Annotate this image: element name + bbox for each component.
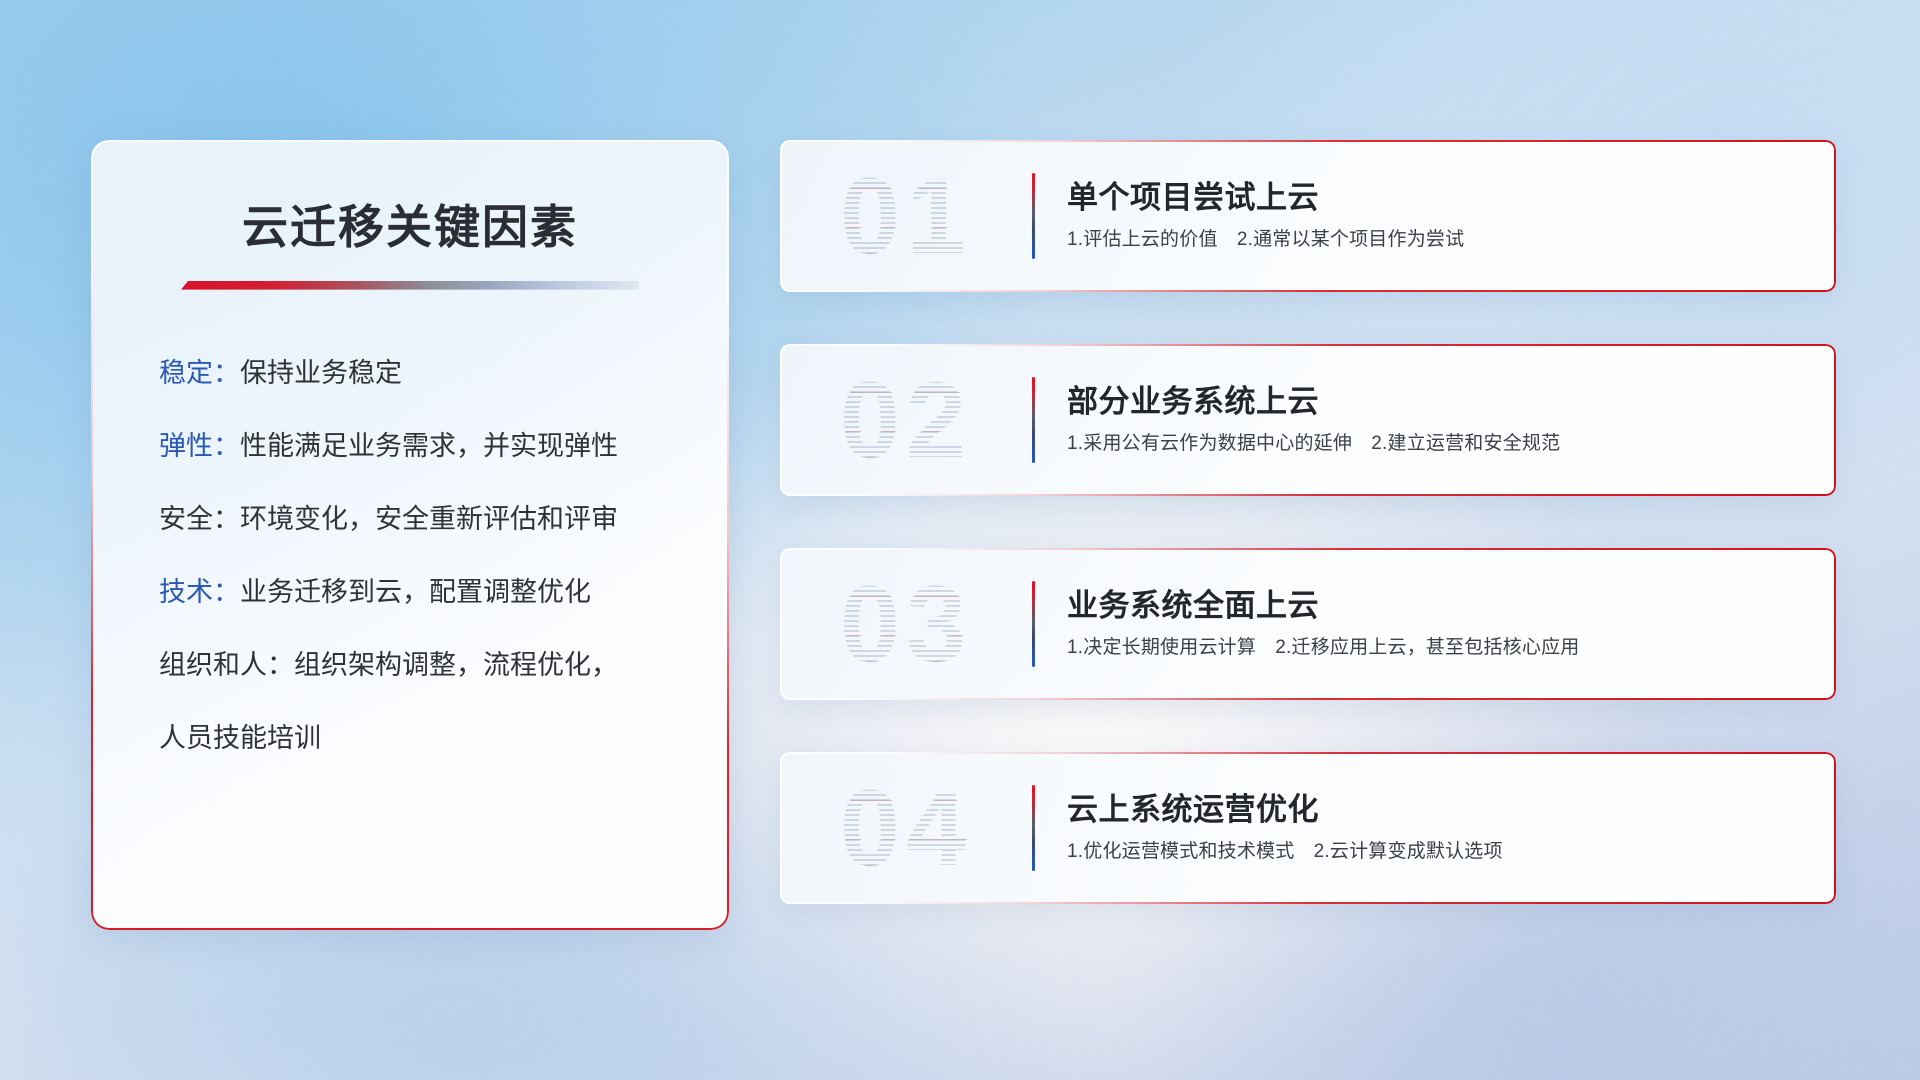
step-description: 1.采用公有云作为数据中心的延伸 2.建立运营和安全规范 [1067, 432, 1560, 457]
list-item-value: 保持业务稳定 [240, 358, 402, 388]
list-item: 组织和人：组织架构调整，流程优化， [159, 652, 683, 679]
step-card-content: 04 云上系统运营优化 1.优化运营模式和技术模式 2.云计算变成默认选项 [780, 752, 1836, 904]
list-item: 弹性：性能满足业务需求，并实现弹性 [159, 433, 683, 460]
key-factors-list: 稳定：保持业务稳定 弹性：性能满足业务需求，并实现弹性 安全：环境变化，安全重新… [137, 360, 683, 752]
list-item-value: 性能满足业务需求，并实现弹性 [240, 431, 618, 461]
list-item-key: 稳定： [159, 358, 240, 388]
list-item-value: 组织架构调整，流程优化， [294, 650, 618, 680]
step-text-block: 云上系统运营优化 1.优化运营模式和技术模式 2.云计算变成默认选项 [1035, 791, 1503, 865]
list-item-key: 组织和人： [159, 650, 294, 680]
step-title: 单个项目尝试上云 [1067, 179, 1464, 216]
list-item-key: 弹性： [159, 431, 240, 461]
list-item-key: 安全： [159, 504, 240, 534]
step-title: 云上系统运营优化 [1067, 791, 1503, 828]
step-description: 1.决定长期使用云计算 2.迁移应用上云，甚至包括核心应用 [1067, 636, 1580, 661]
slide-stage: 云迁移关键因素 稳定：保持业务稳定 弹性：性能满足业务需求，并实现弹性 安全：环… [0, 0, 1920, 1080]
key-factors-panel-content: 云迁移关键因素 稳定：保持业务稳定 弹性：性能满足业务需求，并实现弹性 安全：环… [91, 140, 729, 752]
step-number: 01 [840, 162, 972, 270]
step-number: 03 [840, 570, 972, 678]
migration-steps-list: 01 单个项目尝试上云 1.评估上云的价值 2.通常以某个项目作为尝试 02 部… [780, 140, 1836, 904]
page-title: 云迁移关键因素 [137, 202, 683, 253]
list-item: 稳定：保持业务稳定 [159, 360, 683, 387]
step-number-wrap: 04 [780, 752, 1032, 904]
list-item-value: 人员技能培训 [159, 723, 321, 753]
list-item: 技术：业务迁移到云，配置调整优化 [159, 579, 683, 606]
step-title: 业务系统全面上云 [1067, 587, 1580, 624]
step-description: 1.优化运营模式和技术模式 2.云计算变成默认选项 [1067, 840, 1503, 865]
step-card-01[interactable]: 01 单个项目尝试上云 1.评估上云的价值 2.通常以某个项目作为尝试 [780, 140, 1836, 292]
step-text-block: 业务系统全面上云 1.决定长期使用云计算 2.迁移应用上云，甚至包括核心应用 [1035, 587, 1580, 661]
step-card-04[interactable]: 04 云上系统运营优化 1.优化运营模式和技术模式 2.云计算变成默认选项 [780, 752, 1836, 904]
step-card-02[interactable]: 02 部分业务系统上云 1.采用公有云作为数据中心的延伸 2.建立运营和安全规范 [780, 344, 1836, 496]
step-card-content: 03 业务系统全面上云 1.决定长期使用云计算 2.迁移应用上云，甚至包括核心应… [780, 548, 1836, 700]
step-number: 04 [840, 774, 972, 882]
step-number-wrap: 01 [780, 140, 1032, 292]
step-card-content: 01 单个项目尝试上云 1.评估上云的价值 2.通常以某个项目作为尝试 [780, 140, 1836, 292]
step-title: 部分业务系统上云 [1067, 383, 1560, 420]
step-card-content: 02 部分业务系统上云 1.采用公有云作为数据中心的延伸 2.建立运营和安全规范 [780, 344, 1836, 496]
list-item: 安全：环境变化，安全重新评估和评审 [159, 506, 683, 533]
step-card-03[interactable]: 03 业务系统全面上云 1.决定长期使用云计算 2.迁移应用上云，甚至包括核心应… [780, 548, 1836, 700]
step-number-wrap: 03 [780, 548, 1032, 700]
list-item: 人员技能培训 [159, 725, 683, 752]
step-number-wrap: 02 [780, 344, 1032, 496]
list-item-key: 技术： [159, 577, 240, 607]
key-factors-panel: 云迁移关键因素 稳定：保持业务稳定 弹性：性能满足业务需求，并实现弹性 安全：环… [91, 140, 729, 930]
list-item-value: 业务迁移到云，配置调整优化 [240, 577, 591, 607]
step-number: 02 [840, 366, 972, 474]
list-item-value: 环境变化，安全重新评估和评审 [240, 504, 618, 534]
step-text-block: 单个项目尝试上云 1.评估上云的价值 2.通常以某个项目作为尝试 [1035, 179, 1464, 253]
step-text-block: 部分业务系统上云 1.采用公有云作为数据中心的延伸 2.建立运营和安全规范 [1035, 383, 1560, 457]
step-description: 1.评估上云的价值 2.通常以某个项目作为尝试 [1067, 228, 1464, 253]
title-underline-rule [181, 281, 639, 290]
